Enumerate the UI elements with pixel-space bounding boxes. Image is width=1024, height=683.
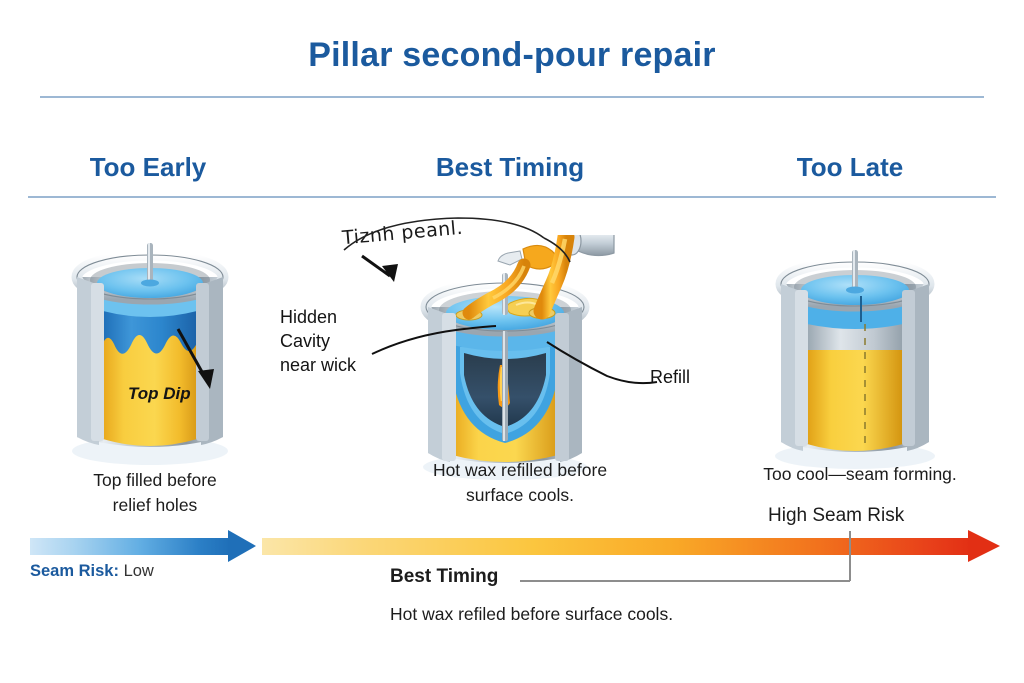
caption-line-1: Too cool—seam forming. bbox=[710, 462, 1010, 487]
risk-bar-low-arrow bbox=[228, 530, 256, 562]
arrow-top-dip bbox=[170, 325, 230, 395]
risk-bar-low bbox=[30, 538, 230, 555]
panel-best-timing: Tiznh peanl. Hidden Cavity near wick Ref… bbox=[330, 200, 710, 530]
page-title: Pillar second-pour repair bbox=[0, 36, 1024, 75]
best-timing-subtext: Hot wax refiled before surface cools. bbox=[390, 604, 673, 625]
caption-line-2: surface cools. bbox=[345, 483, 695, 508]
caption-line-2: relief holes bbox=[10, 493, 300, 518]
leader-hidden-cavity bbox=[370, 310, 500, 370]
best-timing-leader-vertical bbox=[849, 531, 851, 581]
high-seam-risk-label: High Seam Risk bbox=[768, 505, 904, 527]
column-header-too-late: Too Late bbox=[730, 152, 970, 183]
columns-divider bbox=[28, 196, 996, 198]
best-timing-annotation: Best Timing bbox=[390, 566, 498, 588]
seam-risk-key: Seam Risk: bbox=[30, 562, 119, 580]
seam-risk-value: Low bbox=[124, 562, 154, 580]
column-header-best-timing: Best Timing bbox=[380, 152, 640, 183]
risk-bar-high bbox=[262, 538, 972, 555]
caption-too-early: Top filled before relief holes bbox=[10, 468, 300, 518]
caption-line-1: Hot wax refilled before bbox=[345, 458, 695, 483]
best-timing-leader-horizontal bbox=[520, 580, 850, 582]
risk-bar-high-arrow bbox=[968, 530, 1000, 562]
caption-too-late: Too cool—seam forming. bbox=[710, 462, 1010, 487]
leader-refill bbox=[545, 338, 660, 398]
sketch-note-bracket bbox=[338, 210, 588, 290]
caption-line-1: Top filled before bbox=[10, 468, 300, 493]
infographic-canvas: Pillar second-pour repair Too Early Best… bbox=[0, 0, 1024, 683]
title-divider bbox=[40, 96, 984, 98]
caption-best-timing: Hot wax refilled before surface cools. bbox=[345, 458, 695, 508]
candle-illustration-too-late bbox=[755, 230, 955, 475]
seam-risk-legend: Seam Risk: Low bbox=[30, 562, 154, 581]
column-header-too-early: Too Early bbox=[28, 152, 268, 183]
panel-too-late: Too cool—seam forming. bbox=[710, 200, 1024, 530]
